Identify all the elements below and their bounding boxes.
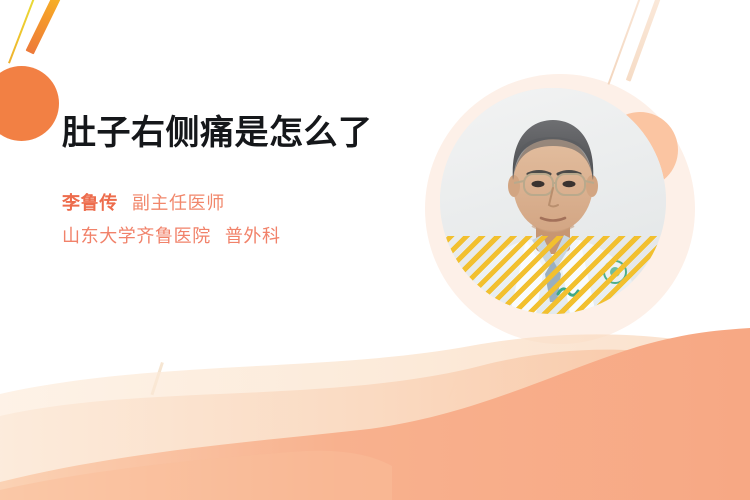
portrait-illustration [440, 88, 666, 314]
doctor-professional-title: 副主任医师 [132, 193, 225, 214]
doctor-credentials: 李鲁传副主任医师 山东大学齐鲁医院普外科 [62, 191, 412, 249]
doctor-name: 李鲁传 [62, 193, 118, 214]
diagonal-stroke-yellow-icon [8, 0, 38, 64]
diagonal-stroke-topright-b-icon [607, 0, 643, 85]
doctor-video-cover-card: 肚子右侧痛是怎么了 李鲁传副主任医师 山东大学齐鲁医院普外科 [0, 0, 750, 500]
doctor-department: 普外科 [225, 226, 281, 247]
doctor-affiliation-row: 山东大学齐鲁医院普外科 [62, 224, 412, 250]
doctor-name-row: 李鲁传副主任医师 [62, 191, 412, 217]
diagonal-stroke-orange-icon [26, 0, 67, 54]
diagonal-stroke-topright-a-icon [626, 0, 665, 82]
page-title: 肚子右侧痛是怎么了 [62, 112, 412, 155]
doctor-hospital: 山东大学齐鲁医院 [62, 226, 211, 247]
doctor-portrait-photo [440, 88, 666, 314]
orange-circle-decoration [0, 66, 59, 141]
text-content-block: 肚子右侧痛是怎么了 李鲁传副主任医师 山东大学齐鲁医院普外科 [62, 112, 412, 250]
bottom-wave-decoration [0, 320, 750, 500]
